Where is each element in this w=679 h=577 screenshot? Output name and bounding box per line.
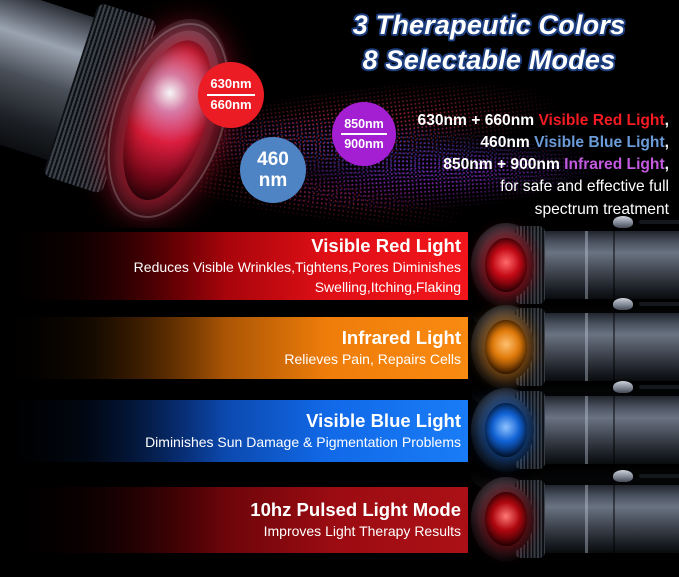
band-subtitle-line-1: Diminishes Sun Damage & Pigmentation Pro… xyxy=(145,434,461,452)
flashlight-seam-ring xyxy=(613,396,615,464)
spec-line-blue: 460nm Visible Blue Light, xyxy=(383,132,669,154)
headline-line-1: 3 Therapeutic Colors xyxy=(311,8,667,43)
bubble-purple-top: 850nm xyxy=(344,117,384,131)
product-flashlight-pulsed xyxy=(463,477,679,563)
bubble-blue-top: 460 xyxy=(257,149,289,170)
band-subtitle-line-1: Relieves Pain, Repairs Cells xyxy=(284,351,461,369)
spec-red-wavelengths: 630nm + 660nm xyxy=(418,112,539,129)
band-subtitle-line-2: Swelling,Itching,Flaking xyxy=(315,279,461,297)
spec-line-red: 630nm + 660nm Visible Red Light, xyxy=(383,110,669,132)
band-text-block: Infrared Light Relieves Pain, Repairs Ce… xyxy=(51,317,461,379)
flashlight-power-button xyxy=(613,381,633,393)
bubble-purple-bottom: 900nm xyxy=(344,137,384,151)
spec-line-5: spectrum treatment xyxy=(383,199,669,221)
wavelength-bubble-blue: 460 nm xyxy=(240,137,306,203)
band-text-block: Visible Blue Light Diminishes Sun Damage… xyxy=(51,400,461,462)
bubble-blue-bottom: nm xyxy=(259,170,288,191)
spec-blue-comma: , xyxy=(665,134,669,151)
page-title: 3 Therapeutic Colors 8 Selectable Modes xyxy=(311,8,667,77)
flashlight-highlight-ring xyxy=(585,313,588,381)
flashlight-seam-ring xyxy=(613,485,615,553)
feature-band-pulsed-light-mode: 10hz Pulsed Light Mode Improves Light Th… xyxy=(0,487,679,553)
spec-red-comma: , xyxy=(665,112,669,129)
band-subtitle-line-1: Reduces Visible Wrinkles,Tightens,Pores … xyxy=(134,259,461,277)
flashlight-tail-edge xyxy=(639,302,679,306)
feature-band-visible-blue-light: Visible Blue Light Diminishes Sun Damage… xyxy=(0,400,679,462)
spec-infrared-comma: , xyxy=(665,156,669,173)
headline-line-2: 8 Selectable Modes xyxy=(311,43,667,78)
product-flashlight-red xyxy=(463,223,679,309)
band-title: Visible Red Light xyxy=(311,235,461,257)
band-title: Visible Blue Light xyxy=(306,410,461,432)
spec-line-infrared: 850nm + 900nm Infrared Light, xyxy=(383,154,669,176)
flashlight-power-button xyxy=(613,470,633,482)
flashlight-tail-edge xyxy=(639,474,679,478)
band-subtitle-line-1: Improves Light Therapy Results xyxy=(264,523,461,541)
spec-blue-wavelengths: 460nm xyxy=(480,134,534,151)
spec-paragraph: 630nm + 660nm Visible Red Light, 460nm V… xyxy=(383,110,669,221)
bubble-divider xyxy=(341,133,387,135)
band-text-block: Visible Red Light Reduces Visible Wrinkl… xyxy=(51,232,461,300)
flashlight-glowing-lens xyxy=(485,320,527,374)
product-flashlight-infrared xyxy=(463,305,679,391)
spec-line-4: for safe and effective full xyxy=(383,176,669,198)
wavelength-bubble-red: 630nm 660nm xyxy=(198,62,264,128)
band-text-block: 10hz Pulsed Light Mode Improves Light Th… xyxy=(51,487,461,553)
flashlight-glowing-lens xyxy=(485,492,527,546)
flashlight-seam-ring xyxy=(613,231,615,299)
flashlight-seam-ring xyxy=(613,313,615,381)
product-flashlight-blue xyxy=(463,388,679,474)
band-title: Infrared Light xyxy=(342,327,461,349)
bubble-red-bottom: 660nm xyxy=(210,98,251,113)
hero-section: 3 Therapeutic Colors 8 Selectable Modes … xyxy=(0,0,679,228)
flashlight-highlight-ring xyxy=(585,485,588,553)
flashlight-tail-edge xyxy=(639,385,679,389)
spec-infrared-wavelengths: 850nm + 900nm xyxy=(443,156,564,173)
spec-blue-label: Visible Blue Light xyxy=(534,134,665,151)
flashlight-highlight-ring xyxy=(585,396,588,464)
flashlight-power-button xyxy=(613,298,633,310)
spec-infrared-label: Infrared Light xyxy=(564,156,665,173)
spec-red-label: Visible Red Light xyxy=(538,112,664,129)
feature-band-visible-red-light: Visible Red Light Reduces Visible Wrinkl… xyxy=(0,232,679,300)
bubble-divider xyxy=(207,94,255,96)
feature-band-infrared-light: Infrared Light Relieves Pain, Repairs Ce… xyxy=(0,317,679,379)
band-title: 10hz Pulsed Light Mode xyxy=(250,499,461,521)
bubble-red-top: 630nm xyxy=(210,77,251,92)
flashlight-highlight-ring xyxy=(585,231,588,299)
flashlight-glowing-lens xyxy=(485,403,527,457)
flashlight-glowing-lens xyxy=(485,238,527,292)
